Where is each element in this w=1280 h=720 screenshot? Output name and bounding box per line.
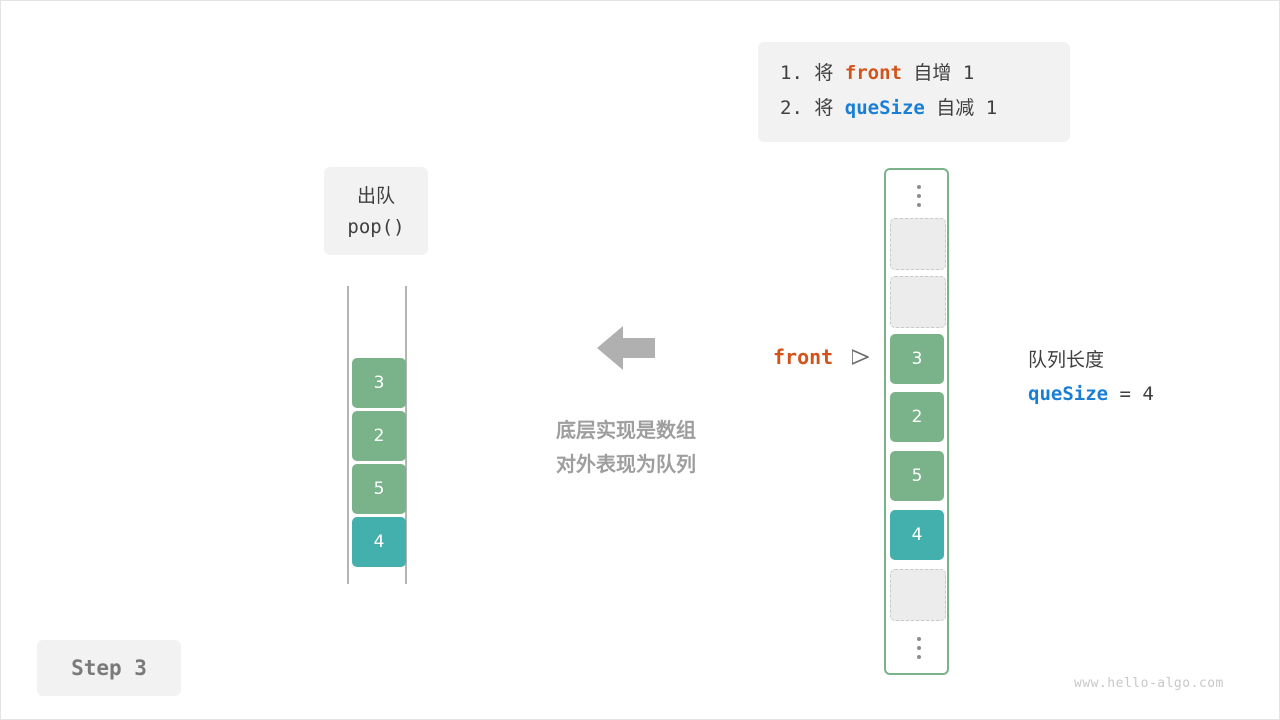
left-arrow-icon [597, 324, 655, 372]
array-bottom-ellipsis-icon [886, 632, 951, 664]
array-cell-2: 3 [890, 334, 944, 384]
callout-line-2-prefix: 2. 将 [780, 97, 845, 119]
pop-label-method: pop() [324, 212, 428, 243]
array-frame: 3 2 5 4 [884, 168, 949, 675]
queue-size-equals: = [1108, 383, 1142, 405]
queue-size-expression: queSize = 4 [1028, 377, 1154, 411]
queue-length-title: 队列长度 [1028, 343, 1154, 377]
array-cell-0 [890, 218, 946, 270]
array-cell-4: 5 [890, 451, 944, 501]
step-badge-label: Step 3 [71, 656, 147, 680]
queue-view-list: 3 2 5 4 [347, 286, 407, 584]
queue-cell-2: 5 [352, 464, 406, 514]
queue-size-value: 4 [1142, 383, 1153, 405]
callout-line-2-code: queSize [845, 97, 925, 119]
array-cell-5: 4 [890, 510, 944, 560]
callout-line-1-prefix: 1. 将 [780, 62, 845, 84]
array-cell-1 [890, 276, 946, 328]
queue-cell-3: 4 [352, 517, 406, 567]
array-cell-3: 2 [890, 392, 944, 442]
watermark: www.hello-algo.com [1074, 676, 1224, 691]
array-top-ellipsis-icon [886, 180, 951, 212]
center-caption-line-1: 底层实现是数组 [501, 413, 751, 447]
center-caption-line-2: 对外表现为队列 [501, 447, 751, 481]
callout-line-1-code: front [845, 62, 902, 84]
front-pointer-label: front [773, 345, 833, 369]
callout-box: 1. 将 front 自增 1 2. 将 queSize 自减 1 [758, 42, 1070, 142]
array-cell-6 [890, 569, 946, 621]
front-pointer-arrow-icon [852, 349, 874, 365]
queue-length-info: 队列长度 queSize = 4 [1028, 343, 1154, 411]
center-caption: 底层实现是数组 对外表现为队列 [501, 413, 751, 481]
callout-line-2: 2. 将 queSize 自减 1 [780, 91, 1048, 126]
callout-line-2-suffix: 自减 1 [925, 97, 997, 119]
queue-cell-1: 2 [352, 411, 406, 461]
queue-cell-0: 3 [352, 358, 406, 408]
step-badge: Step 3 [37, 640, 181, 696]
diagram-canvas: 1. 将 front 自增 1 2. 将 queSize 自减 1 出队 pop… [0, 0, 1280, 720]
callout-line-1-suffix: 自增 1 [902, 62, 974, 84]
callout-line-1: 1. 将 front 自增 1 [780, 56, 1048, 91]
queue-size-var: queSize [1028, 383, 1108, 405]
pop-label-title: 出队 [324, 181, 428, 212]
pop-label-box: 出队 pop() [324, 167, 428, 255]
